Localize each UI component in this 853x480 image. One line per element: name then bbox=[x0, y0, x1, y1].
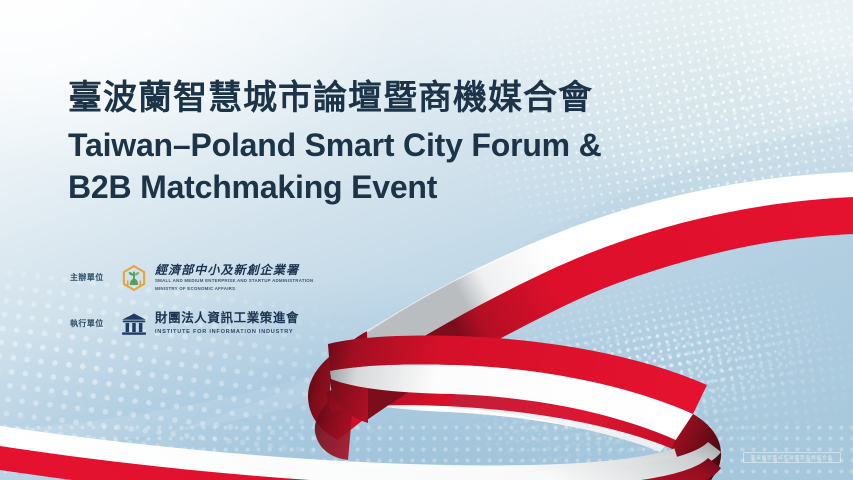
logo-name-chinese-sme: 經濟部中小及新創企業署 bbox=[155, 264, 313, 277]
logo-institute-information-industry: 財團法人資訊工業策進會 INSTITUTE FOR INFORMATION IN… bbox=[120, 310, 299, 338]
poland-flag-ribbon-overlay bbox=[0, 0, 853, 480]
logo-name-chinese-iii: 財團法人資訊工業策進會 bbox=[155, 312, 299, 326]
event-title-english-line2: B2B Matchmaking Event bbox=[68, 167, 668, 209]
credit-label-executor: 執行單位 bbox=[70, 319, 114, 329]
watermark-badge: 臺波蘭智慧城市論壇暨商機媒合會 bbox=[743, 452, 841, 463]
logo-name-english-sme-line2: MINISTRY OF ECONOMIC AFFAIRS bbox=[155, 286, 313, 292]
logo-name-english-sme-line1: SMALL AND MEDIUM ENTERPRISE AND STARTUP … bbox=[155, 278, 313, 284]
logo-name-english-iii: INSTITUTE FOR INFORMATION INDUSTRY bbox=[155, 328, 299, 336]
credit-label-organizer: 主辦單位 bbox=[70, 273, 114, 283]
event-title-english: Taiwan–Poland Smart City Forum & B2B Mat… bbox=[68, 125, 668, 208]
headline-block: 臺波蘭智慧城市論壇暨商機媒合會 Taiwan–Poland Smart City… bbox=[68, 78, 688, 209]
credit-row-organizer: 主辦單位 經濟部中小及新創企業署 SMALL AND MEDIUM ENTERP… bbox=[70, 258, 400, 298]
credit-row-executor: 執行單位 財團法人資訊工業策進會 INSTITUTE FOR INFORMATI… bbox=[70, 304, 400, 344]
hexagon-sprout-icon bbox=[120, 264, 148, 292]
classical-building-icon bbox=[120, 310, 148, 338]
logo-text-iii: 財團法人資訊工業策進會 INSTITUTE FOR INFORMATION IN… bbox=[155, 312, 299, 336]
logo-text-sme: 經濟部中小及新創企業署 SMALL AND MEDIUM ENTERPRISE … bbox=[155, 264, 313, 293]
organizer-credits: 主辦單位 經濟部中小及新創企業署 SMALL AND MEDIUM ENTERP… bbox=[70, 258, 400, 350]
event-title-chinese: 臺波蘭智慧城市論壇暨商機媒合會 bbox=[68, 78, 688, 119]
logo-sme-administration: 經濟部中小及新創企業署 SMALL AND MEDIUM ENTERPRISE … bbox=[120, 264, 313, 293]
event-banner: 臺波蘭智慧城市論壇暨商機媒合會 Taiwan–Poland Smart City… bbox=[0, 0, 853, 480]
event-title-english-line1: Taiwan–Poland Smart City Forum & bbox=[68, 125, 668, 167]
